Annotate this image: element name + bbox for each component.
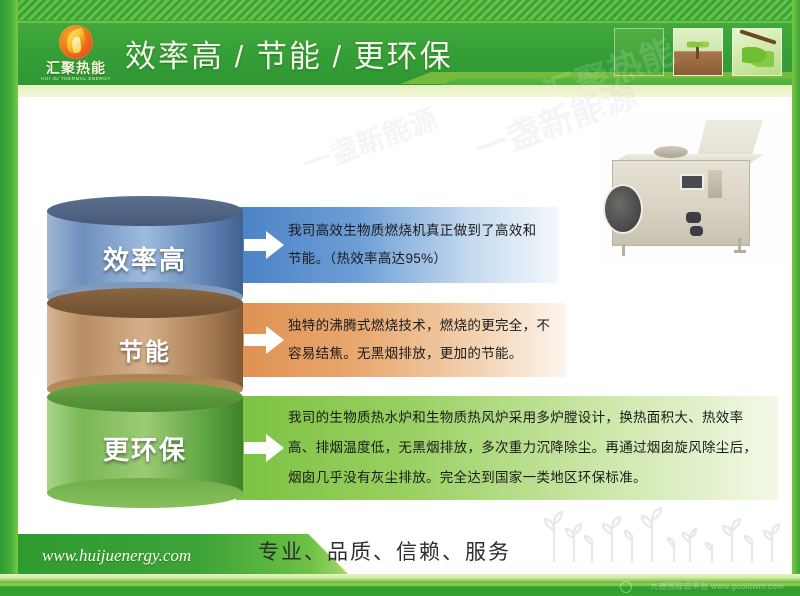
thumbnail-sprout-photo: [673, 28, 723, 76]
machine-knob-upper: [686, 212, 701, 223]
cylinder-label-efficiency: 效率高: [47, 240, 243, 277]
machine-leg-left: [622, 244, 625, 256]
cylinder-label-eco: 更环保: [47, 430, 243, 467]
company-logo: 汇聚热能 HUI JU THERMAL ENERGY: [30, 24, 122, 82]
machine-foot-right: [734, 250, 746, 253]
frame-top-stripe: [0, 0, 800, 20]
logo-chinese-name: 汇聚热能: [46, 61, 106, 76]
cylinder-top-efficiency: [47, 196, 243, 226]
thumbnail-leaf-photo: [732, 28, 782, 76]
cylinder-energysaving: 节能: [47, 288, 243, 396]
machine-control-panel: [680, 174, 704, 190]
feature-text-efficiency: 我司高效生物质燃烧机真正做到了高效和节能。（热效率高达95%）: [288, 217, 558, 273]
cylinder-bottom-eco: [47, 478, 243, 508]
thumbnail-blank: [614, 28, 664, 76]
footer-watermark-icon: [620, 581, 632, 593]
footer-tagline: 专业、品质、信赖、服务: [258, 536, 511, 566]
frame-left-bar: [0, 0, 18, 596]
page-title: 效率高 / 节能 / 更环保: [125, 28, 453, 78]
footer-watermark-text: 九德国际云平台 www.guoluwm.com: [650, 581, 784, 592]
feature-text-eco: 我司的生物质热水炉和生物质热风炉采用多炉膛设计，换热面积大、热效率高、排烟温度低…: [288, 403, 778, 493]
watermark-body-b: 一盏新能源: [297, 97, 442, 182]
feature-panel-energysaving: 独特的沸腾式燃烧技术，燃烧的更完全，不容易结焦。无黑烟排放，更加的节能。: [236, 303, 566, 377]
flame-sun-icon: [59, 25, 93, 59]
machine-nameplate: [708, 170, 722, 198]
machine-duct-opening: [654, 146, 688, 158]
machine-blower-outlet: [603, 184, 643, 234]
sprout-silhouettes: [540, 500, 790, 562]
footer-website-link[interactable]: www.huijuenergy.com: [42, 546, 191, 566]
arrow-icon-efficiency: [236, 207, 288, 283]
header-under-strip: [18, 85, 792, 97]
cylinder-eco: 更环保: [47, 382, 243, 500]
cylinder-top-eco: [47, 382, 243, 412]
feature-panel-efficiency: 我司高效生物质燃烧机真正做到了高效和节能。（热效率高达95%）: [236, 207, 558, 283]
machine-knob-lower: [690, 226, 703, 236]
arrow-icon-energysaving: [236, 303, 288, 377]
logo-english-name: HUI JU THERMAL ENERGY: [41, 76, 111, 81]
feature-text-energysaving: 独特的沸腾式燃烧技术，燃烧的更完全，不容易结焦。无黑烟排放，更加的节能。: [288, 312, 566, 368]
arrow-icon-eco: [236, 396, 288, 500]
slide-canvas: 汇聚热能 HUI JU THERMAL ENERGY 效率高 / 节能 / 更环…: [0, 0, 800, 596]
header-thumbnail-strip: [614, 28, 782, 76]
cylinder-top-energysaving: [47, 288, 243, 318]
cylinder-label-energysaving: 节能: [47, 332, 243, 367]
header-highlight-line: [18, 21, 792, 23]
machine-photo: [598, 116, 788, 264]
frame-right-bar: [792, 0, 800, 596]
feature-panel-eco: 我司的生物质热水炉和生物质热风炉采用多炉膛设计，换热面积大、热效率高、排烟温度低…: [236, 396, 778, 500]
